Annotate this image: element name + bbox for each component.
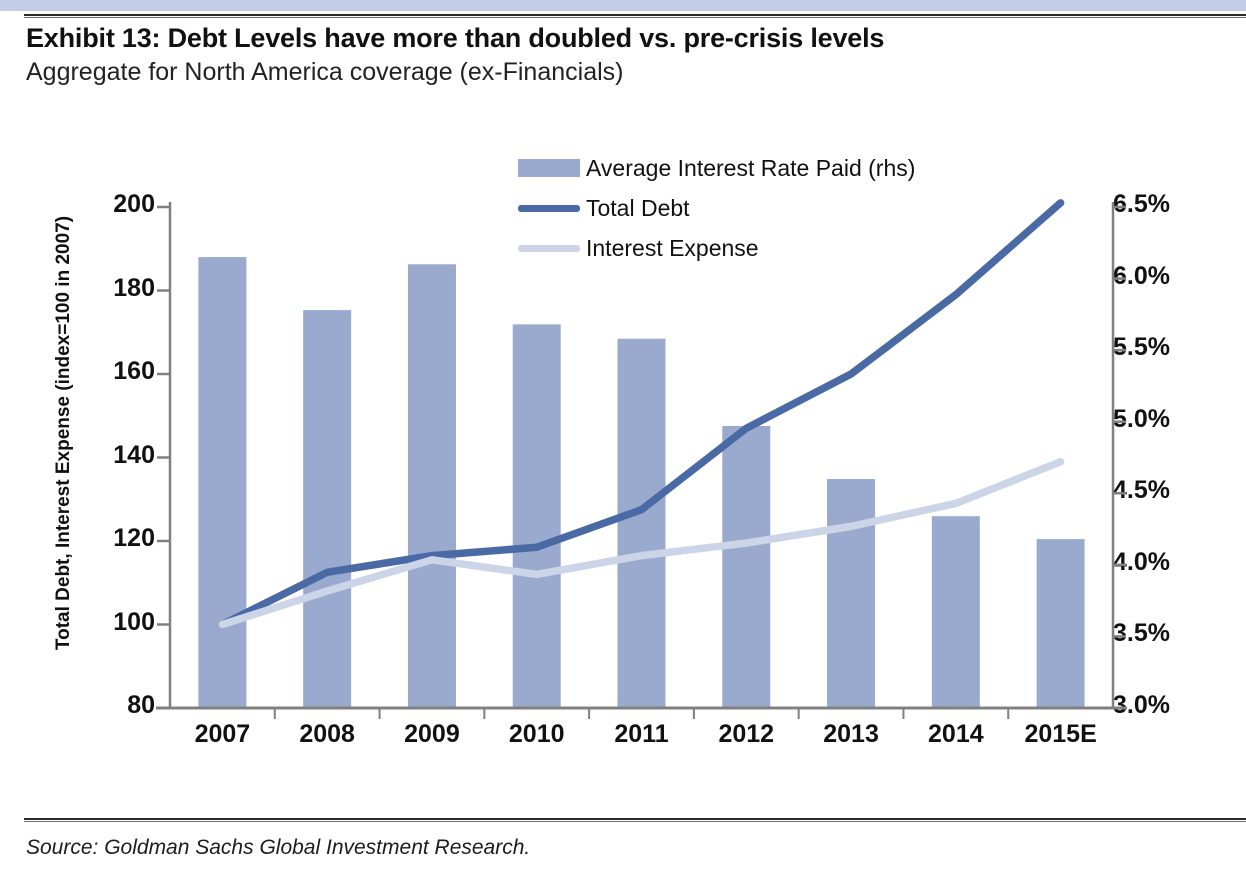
legend-label-1: Total Debt: [586, 195, 690, 222]
exhibit-panel: Exhibit 13: Debt Levels have more than d…: [0, 0, 1246, 882]
legend-bar-swatch-icon: [518, 159, 580, 177]
bar-2009: [408, 264, 456, 708]
bar-2007: [198, 257, 246, 708]
top-color-band: [0, 0, 1246, 11]
source-note: Source: Goldman Sachs Global Investment …: [26, 836, 530, 860]
legend-label-2: Interest Expense: [586, 235, 759, 262]
chart-area: Total Debt, Interest Expense (index=100 …: [0, 100, 1246, 800]
bar-2010: [513, 324, 561, 708]
legend-line-swatch-interest-expense-icon: [518, 245, 580, 252]
bar-2014: [932, 516, 980, 708]
bar-series-group: [198, 257, 1084, 708]
legend-line-swatch-total-debt-icon: [518, 205, 580, 212]
bar-2011: [618, 339, 666, 708]
legend-item-total-debt: Total Debt: [518, 188, 915, 228]
bar-2015E: [1037, 539, 1085, 708]
bar-2012: [722, 426, 770, 708]
chart-legend: Average Interest Rate Paid (rhs) Total D…: [518, 148, 915, 268]
legend-item-average-interest-rate-paid: Average Interest Rate Paid (rhs): [518, 148, 915, 188]
exhibit-subtitle: Aggregate for North America coverage (ex…: [26, 58, 624, 87]
exhibit-title: Exhibit 13: Debt Levels have more than d…: [26, 23, 884, 54]
header-divider-top: [24, 14, 1246, 18]
bar-2008: [303, 310, 351, 708]
footer-divider: [24, 818, 1246, 822]
legend-label-0: Average Interest Rate Paid (rhs): [586, 155, 915, 182]
bar-2013: [827, 479, 875, 708]
legend-item-interest-expense: Interest Expense: [518, 228, 915, 268]
